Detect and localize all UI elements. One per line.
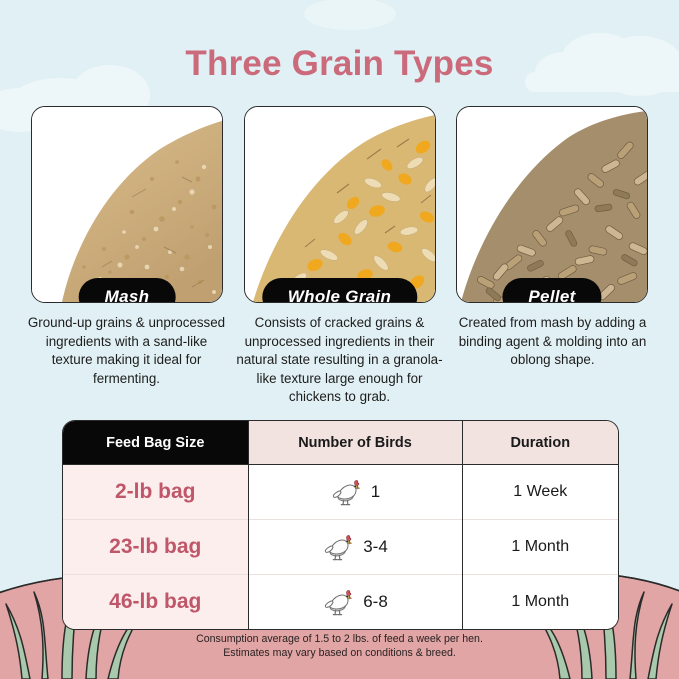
footnote: Consumption average of 1.5 to 2 lbs. of … xyxy=(0,632,679,660)
table-header-row: Feed Bag Size Number of Birds Duration xyxy=(63,421,618,465)
cell-bag-size: 2-lb bag xyxy=(63,465,248,520)
card-pill-pellet: Pellet xyxy=(502,278,601,303)
grain-descriptions: Ground-up grains & unprocessed ingredien… xyxy=(24,314,655,407)
chicken-icon xyxy=(322,532,356,562)
cloud-small-top xyxy=(304,0,396,30)
grain-type-cards: Mash xyxy=(31,106,648,303)
header-feed-bag-size: Feed Bag Size xyxy=(63,421,248,465)
whole-grain-photo xyxy=(245,107,435,302)
bird-count-label: 1 xyxy=(371,482,380,502)
mash-grain-photo xyxy=(32,107,222,302)
footnote-line-1: Consumption average of 1.5 to 2 lbs. of … xyxy=(0,632,679,646)
cell-number-of-birds: 6-8 xyxy=(248,575,462,630)
bird-count-label: 3-4 xyxy=(363,537,388,557)
cell-bag-size: 23-lb bag xyxy=(63,520,248,575)
description-whole-grain: Consists of cracked grains & unprocessed… xyxy=(232,314,448,407)
card-whole-grain[interactable]: Whole Grain xyxy=(244,106,436,303)
pellet-photo xyxy=(457,107,647,302)
cell-duration: 1 Week xyxy=(462,465,618,520)
card-pill-mash: Mash xyxy=(79,278,176,303)
feed-bag-table: Feed Bag Size Number of Birds Duration 2… xyxy=(62,420,619,630)
table-row: 2-lb bag xyxy=(63,465,618,520)
chicken-icon xyxy=(330,477,364,507)
cell-duration: 1 Month xyxy=(462,520,618,575)
infographic-canvas: Three Grain Types xyxy=(0,0,679,679)
card-mash[interactable]: Mash xyxy=(31,106,223,303)
card-pellet[interactable]: Pellet xyxy=(456,106,648,303)
bird-count-label: 6-8 xyxy=(363,592,388,612)
footnote-line-2: Estimates may vary based on conditions &… xyxy=(0,646,679,660)
header-duration: Duration xyxy=(462,421,618,465)
table-row: 46-lb bag xyxy=(63,575,618,630)
description-mash: Ground-up grains & unprocessed ingredien… xyxy=(24,314,229,407)
description-pellet: Created from mash by adding a binding ag… xyxy=(450,314,655,407)
cell-bag-size: 46-lb bag xyxy=(63,575,248,630)
card-pill-whole-grain: Whole Grain xyxy=(262,278,417,303)
cell-duration: 1 Month xyxy=(462,575,618,630)
header-number-of-birds: Number of Birds xyxy=(248,421,462,465)
cell-number-of-birds: 1 xyxy=(248,465,462,520)
cell-number-of-birds: 3-4 xyxy=(248,520,462,575)
table-row: 23-lb bag xyxy=(63,520,618,575)
chicken-icon xyxy=(322,587,356,617)
page-title: Three Grain Types xyxy=(0,44,679,84)
